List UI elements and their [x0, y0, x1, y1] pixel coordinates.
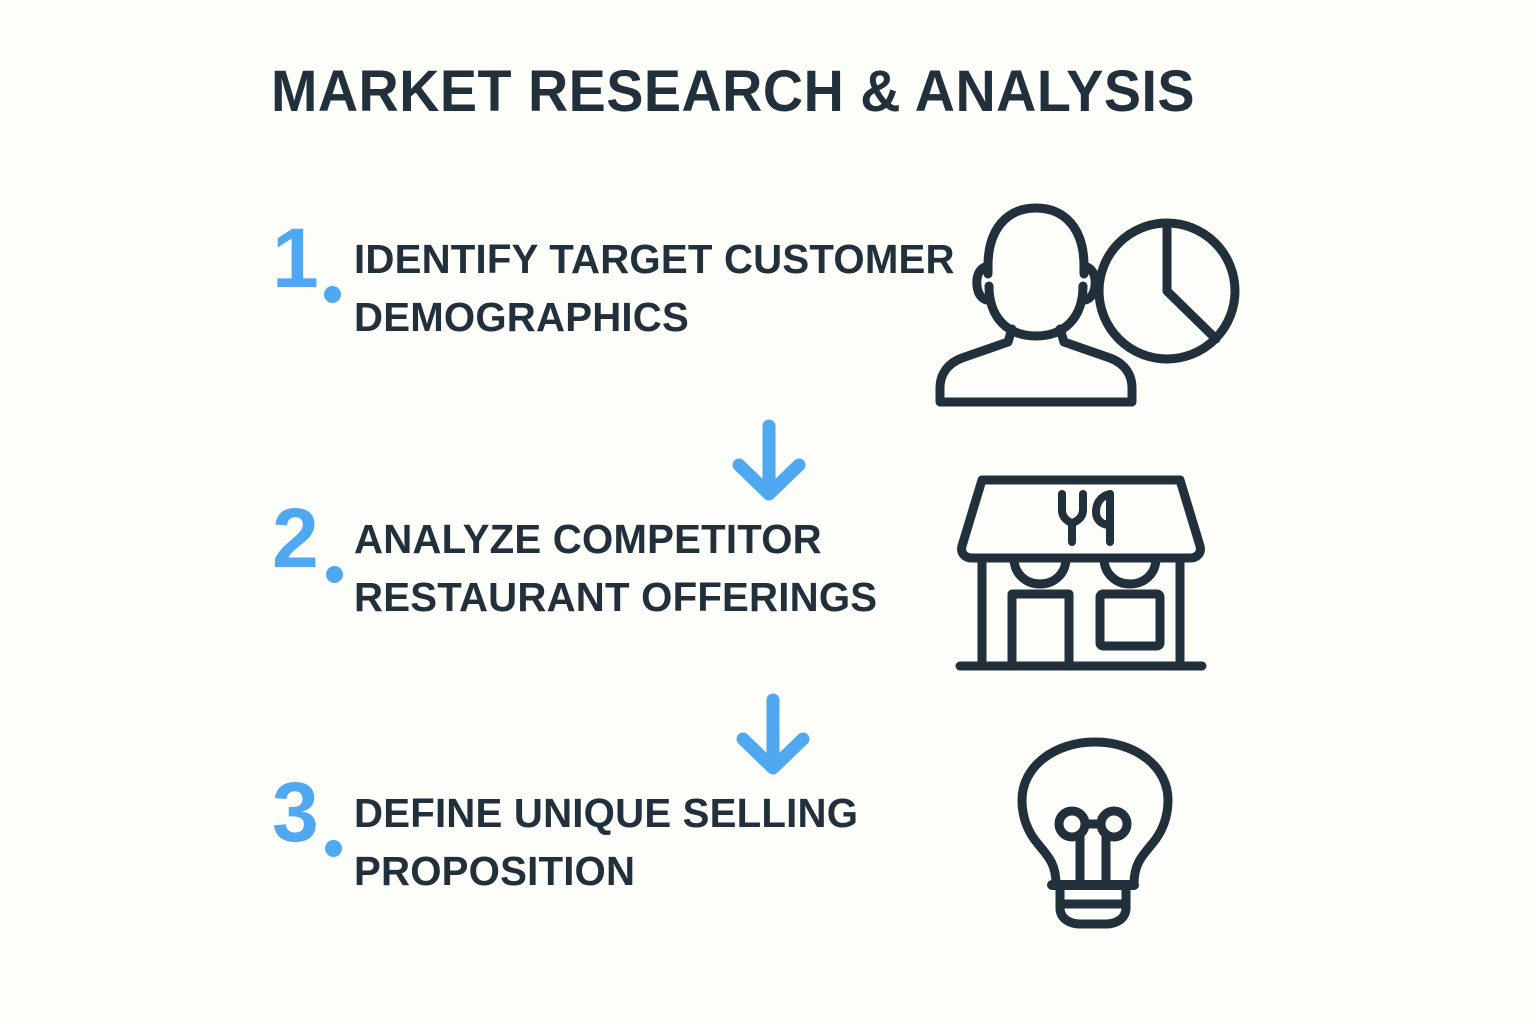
down-arrow-icon: [722, 692, 824, 785]
down-arrow-icon: [718, 418, 820, 511]
step-number-dot: [324, 286, 341, 303]
step-number-3: 3: [272, 782, 354, 878]
step-number-digit: 2: [272, 496, 318, 580]
step-label-3: DEFINE UNIQUE SELLING PROPOSITION: [354, 782, 962, 900]
step-number-digit: 1: [272, 216, 318, 300]
restaurant-storefront-icon: [952, 470, 1210, 685]
step-item-3: 3 DEFINE UNIQUE SELLING PROPOSITION: [272, 782, 974, 900]
step-number-digit: 3: [272, 770, 318, 854]
infographic-canvas: MARKET RESEARCH & ANALYSIS 1 IDENTIFY TA…: [0, 0, 1536, 1024]
step-number-2: 2: [272, 508, 354, 604]
step-number-dot: [325, 840, 342, 857]
step-label-2: ANALYZE COMPETITOR RESTAURANT OFFERINGS: [354, 508, 962, 626]
step-number-dot: [326, 566, 343, 583]
step-item-2: 2 ANALYZE COMPETITOR RESTAURANT OFFERING…: [272, 508, 974, 626]
step-label-1: IDENTIFY TARGET CUSTOMER DEMOGRAPHICS: [354, 228, 962, 346]
page-title: MARKET RESEARCH & ANALYSIS: [29, 62, 1436, 123]
step-number-1: 1: [272, 228, 354, 324]
step-item-1: 1 IDENTIFY TARGET CUSTOMER DEMOGRAPHICS: [272, 228, 974, 346]
person-pie-chart-icon: [932, 196, 1244, 417]
lightbulb-icon: [1000, 732, 1190, 935]
